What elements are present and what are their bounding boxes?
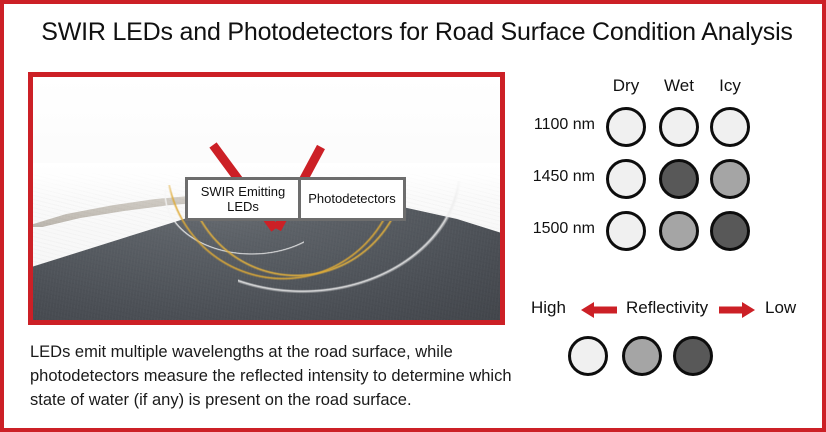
- legend-swatch-row: [509, 336, 809, 388]
- callout-group: SWIR Emitting LEDs Photodetectors: [185, 177, 406, 221]
- legend-title: Reflectivity: [626, 298, 708, 318]
- column-header-icy: Icy: [703, 76, 757, 96]
- cell-1500nm-icy: [710, 211, 750, 251]
- callout-leds-label: SWIR Emitting LEDs: [195, 184, 291, 215]
- callout-swir-emitting-leds: SWIR Emitting LEDs: [185, 177, 301, 221]
- legend-swatch-low: [673, 336, 713, 376]
- cell-1450nm-dry: [606, 159, 646, 199]
- row-label-1450nm: 1450 nm: [509, 168, 595, 186]
- cell-1500nm-wet: [659, 211, 699, 251]
- cell-1100nm-icy: [710, 107, 750, 147]
- arrow-right-icon: [719, 301, 755, 319]
- matrix-row-1450nm: 1450 nm: [509, 154, 769, 206]
- callout-detectors-label: Photodetectors: [308, 191, 395, 206]
- caption-text: LEDs emit multiple wavelengths at the ro…: [30, 341, 530, 413]
- column-header-wet: Wet: [652, 76, 706, 96]
- reflectivity-legend: High Reflectivity Low: [509, 296, 809, 388]
- legend-swatch-medium: [622, 336, 662, 376]
- cell-1450nm-wet: [659, 159, 699, 199]
- arrow-left-icon: [581, 301, 617, 319]
- row-label-1100nm: 1100 nm: [509, 116, 595, 134]
- legend-high-label: High: [531, 298, 566, 318]
- matrix-row-1100nm: 1100 nm: [509, 102, 769, 154]
- road-photo-panel: SWIR Emitting LEDs Photodetectors: [28, 72, 505, 325]
- matrix-row-1500nm: 1500 nm: [509, 206, 769, 258]
- legend-scale-bar: High Reflectivity Low: [509, 296, 809, 322]
- reflectivity-matrix: Dry Wet Icy 1100 nm 1450 nm 1500 nm: [509, 76, 769, 258]
- cell-1100nm-wet: [659, 107, 699, 147]
- column-header-dry: Dry: [599, 76, 653, 96]
- cell-1500nm-dry: [606, 211, 646, 251]
- callout-photodetectors: Photodetectors: [298, 177, 406, 221]
- cell-1100nm-dry: [606, 107, 646, 147]
- page-title: SWIR LEDs and Photodetectors for Road Su…: [4, 18, 826, 47]
- row-label-1500nm: 1500 nm: [509, 220, 595, 238]
- legend-low-label: Low: [765, 298, 796, 318]
- legend-swatch-high: [568, 336, 608, 376]
- cell-1450nm-icy: [710, 159, 750, 199]
- matrix-column-headers: Dry Wet Icy: [509, 76, 769, 102]
- figure-container: SWIR LEDs and Photodetectors for Road Su…: [0, 0, 826, 432]
